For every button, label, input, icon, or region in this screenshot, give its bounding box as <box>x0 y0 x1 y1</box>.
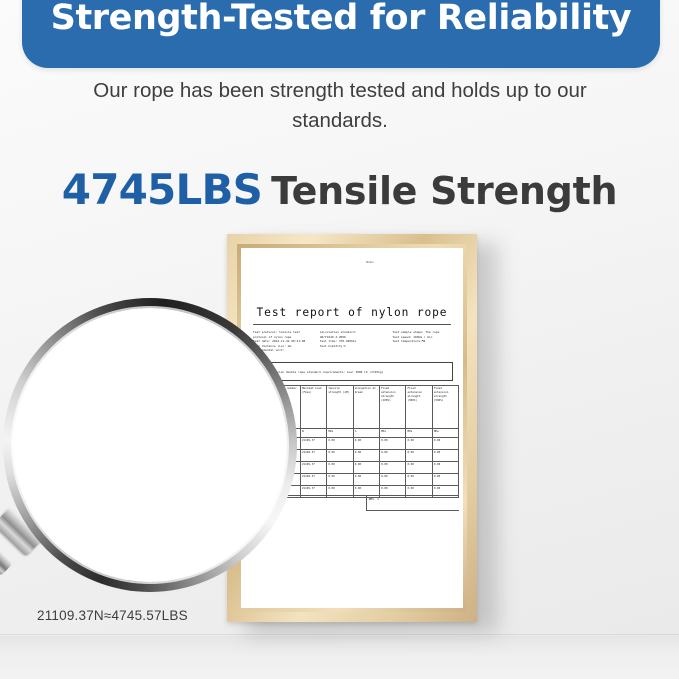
mag-col-header: umber <box>33 308 134 402</box>
unit-cell: MPa <box>327 429 353 438</box>
mag-cell: 0 <box>13 478 33 509</box>
cell: 0.00 <box>353 450 379 462</box>
cell: 0.00 <box>379 474 405 486</box>
cell: 0.00 <box>379 462 405 474</box>
mag-cell: 0.00 <box>243 571 288 583</box>
mag-cell <box>13 509 33 540</box>
magnified-table-row: 0 0.00 21109.37 0.00 0.00 <box>13 478 287 509</box>
cell: 0.00 <box>327 474 353 486</box>
cell: 0.00 <box>406 438 432 450</box>
col-header: elongation at break <box>353 386 379 429</box>
mag-cell: 0.00 <box>33 509 134 540</box>
headline: 4745LBSTensile Strength <box>0 165 679 214</box>
mag-cell: 0.00 <box>33 540 134 571</box>
cell: 0.00 <box>432 462 458 474</box>
mag-unit-cell: MPa <box>243 402 288 433</box>
mag-cell: 21109.37 <box>134 478 243 509</box>
banner-title: Strength-Tested for Reliability <box>22 0 660 38</box>
cell: 0.00 <box>406 462 432 474</box>
mag-cell: 0.00 <box>243 509 288 540</box>
magnified-table-head: umber Maximum load (Fmax) te. streng h (… <box>13 308 287 402</box>
mag-cell: 21109.37 <box>134 540 243 571</box>
mag-cell <box>13 571 33 583</box>
magnified-table-row: 0.00 21109.37 0.00 <box>13 540 287 571</box>
cell: 0.00 <box>406 474 432 486</box>
meta-line: test temperature:℃ <box>392 339 453 344</box>
mag-cell <box>13 540 33 571</box>
magnified-table-view: umber Maximum load (Fmax) te. streng h (… <box>13 308 287 582</box>
magnified-results-table: umber Maximum load (Fmax) te. streng h (… <box>13 308 287 582</box>
cell: 0.00 <box>327 438 353 450</box>
meta-column-2: Calculation standard: GB/T1040.3-2006 Te… <box>320 330 381 353</box>
mag-cell: 21109.37 <box>134 509 243 540</box>
cell: 0.00 <box>327 462 353 474</box>
mag-col-header: Maximum load (Fmax) <box>134 308 243 402</box>
magnifying-glass: umber Maximum load (Fmax) te. streng h (… <box>3 298 297 592</box>
magnified-table-row: 00 21109.37 0.00 <box>13 571 287 583</box>
background-floor <box>0 636 679 679</box>
cell: 21109.37 <box>300 474 326 486</box>
unit-cell: N <box>300 429 326 438</box>
cell: 0.00 <box>353 438 379 450</box>
magnifier-lens: umber Maximum load (Fmax) te. streng h (… <box>13 308 287 582</box>
magnified-table-body: N MPa % 47 grams / meter 21109.37 0.00 0… <box>13 402 287 583</box>
cell: 21109.37 <box>300 450 326 462</box>
report-footer-cell: RMS. 1 <box>366 496 459 511</box>
meta-line: Test humidity:% <box>320 344 381 349</box>
magnified-units-row: N MPa % <box>13 402 287 433</box>
headline-label: Tensile Strength <box>271 169 617 213</box>
mag-col-header <box>13 308 33 402</box>
cell: 0.00 <box>379 438 405 450</box>
cell: 0.00 <box>406 450 432 462</box>
mag-cell <box>13 433 33 478</box>
magnified-header-row: umber Maximum load (Fmax) te. streng h (… <box>13 308 287 402</box>
headline-value: 4745LBS <box>62 165 262 214</box>
cell: 0.00 <box>432 474 458 486</box>
cell: 0.00 <box>379 450 405 462</box>
meta-column-3: Test sample shape: the rope Test speed: … <box>386 330 453 353</box>
mag-unit-cell <box>33 402 134 433</box>
mag-cell: 47 grams / meter <box>33 433 134 478</box>
mag-col-header: te. streng h (σM) <box>243 308 288 402</box>
mag-cell: 21109.37 <box>134 571 243 583</box>
cell: 0.00 <box>353 462 379 474</box>
col-header: tensile strength (σM) <box>327 386 353 429</box>
cell: 21109.37 <box>300 438 326 450</box>
unit-cell: MPa <box>379 429 405 438</box>
cell: 0.00 <box>432 450 458 462</box>
unit-cell: MPa <box>432 429 458 438</box>
mag-unit-cell: N <box>134 402 243 433</box>
poster-canvas: Strength-Tested for Reliability Our rope… <box>0 0 679 679</box>
unit-cell: MPa <box>406 429 432 438</box>
mag-cell: 0.00 <box>33 478 134 509</box>
mag-cell: 0.00 <box>243 540 288 571</box>
cell: 0.00 <box>353 474 379 486</box>
header-banner: Strength-Tested for Reliability <box>22 0 660 68</box>
cell: 21109.37 <box>300 462 326 474</box>
mag-cell: 0.00 <box>243 478 288 509</box>
conversion-caption: 21109.37N≈4745.57LBS <box>37 608 188 623</box>
cell: 0.00 <box>327 450 353 462</box>
report-footer-note: Note: <box>366 261 374 264</box>
magnified-table-row: 0.00 21109.37 0.00 0 <box>13 509 287 540</box>
col-header: Maximum load (Fmax) <box>300 386 326 429</box>
mag-cell: 21109.37 <box>134 433 243 478</box>
cell: 0.00 <box>432 438 458 450</box>
mag-cell: 00 <box>33 571 134 583</box>
subtitle-text: Our rope has been strength tested and ho… <box>60 76 620 136</box>
magnified-table-row: 47 grams / meter 21109.37 0.00 0.00 <box>13 433 287 478</box>
mag-unit-cell <box>13 402 33 433</box>
col-header: Fixed extension strength (100%) <box>379 386 405 429</box>
col-header: Fixed extension strength (300%) <box>406 386 432 429</box>
col-header: Fixed extension strength (500%) <box>432 386 458 429</box>
mag-cell: 0.00 <box>243 433 288 478</box>
unit-cell: % <box>353 429 379 438</box>
